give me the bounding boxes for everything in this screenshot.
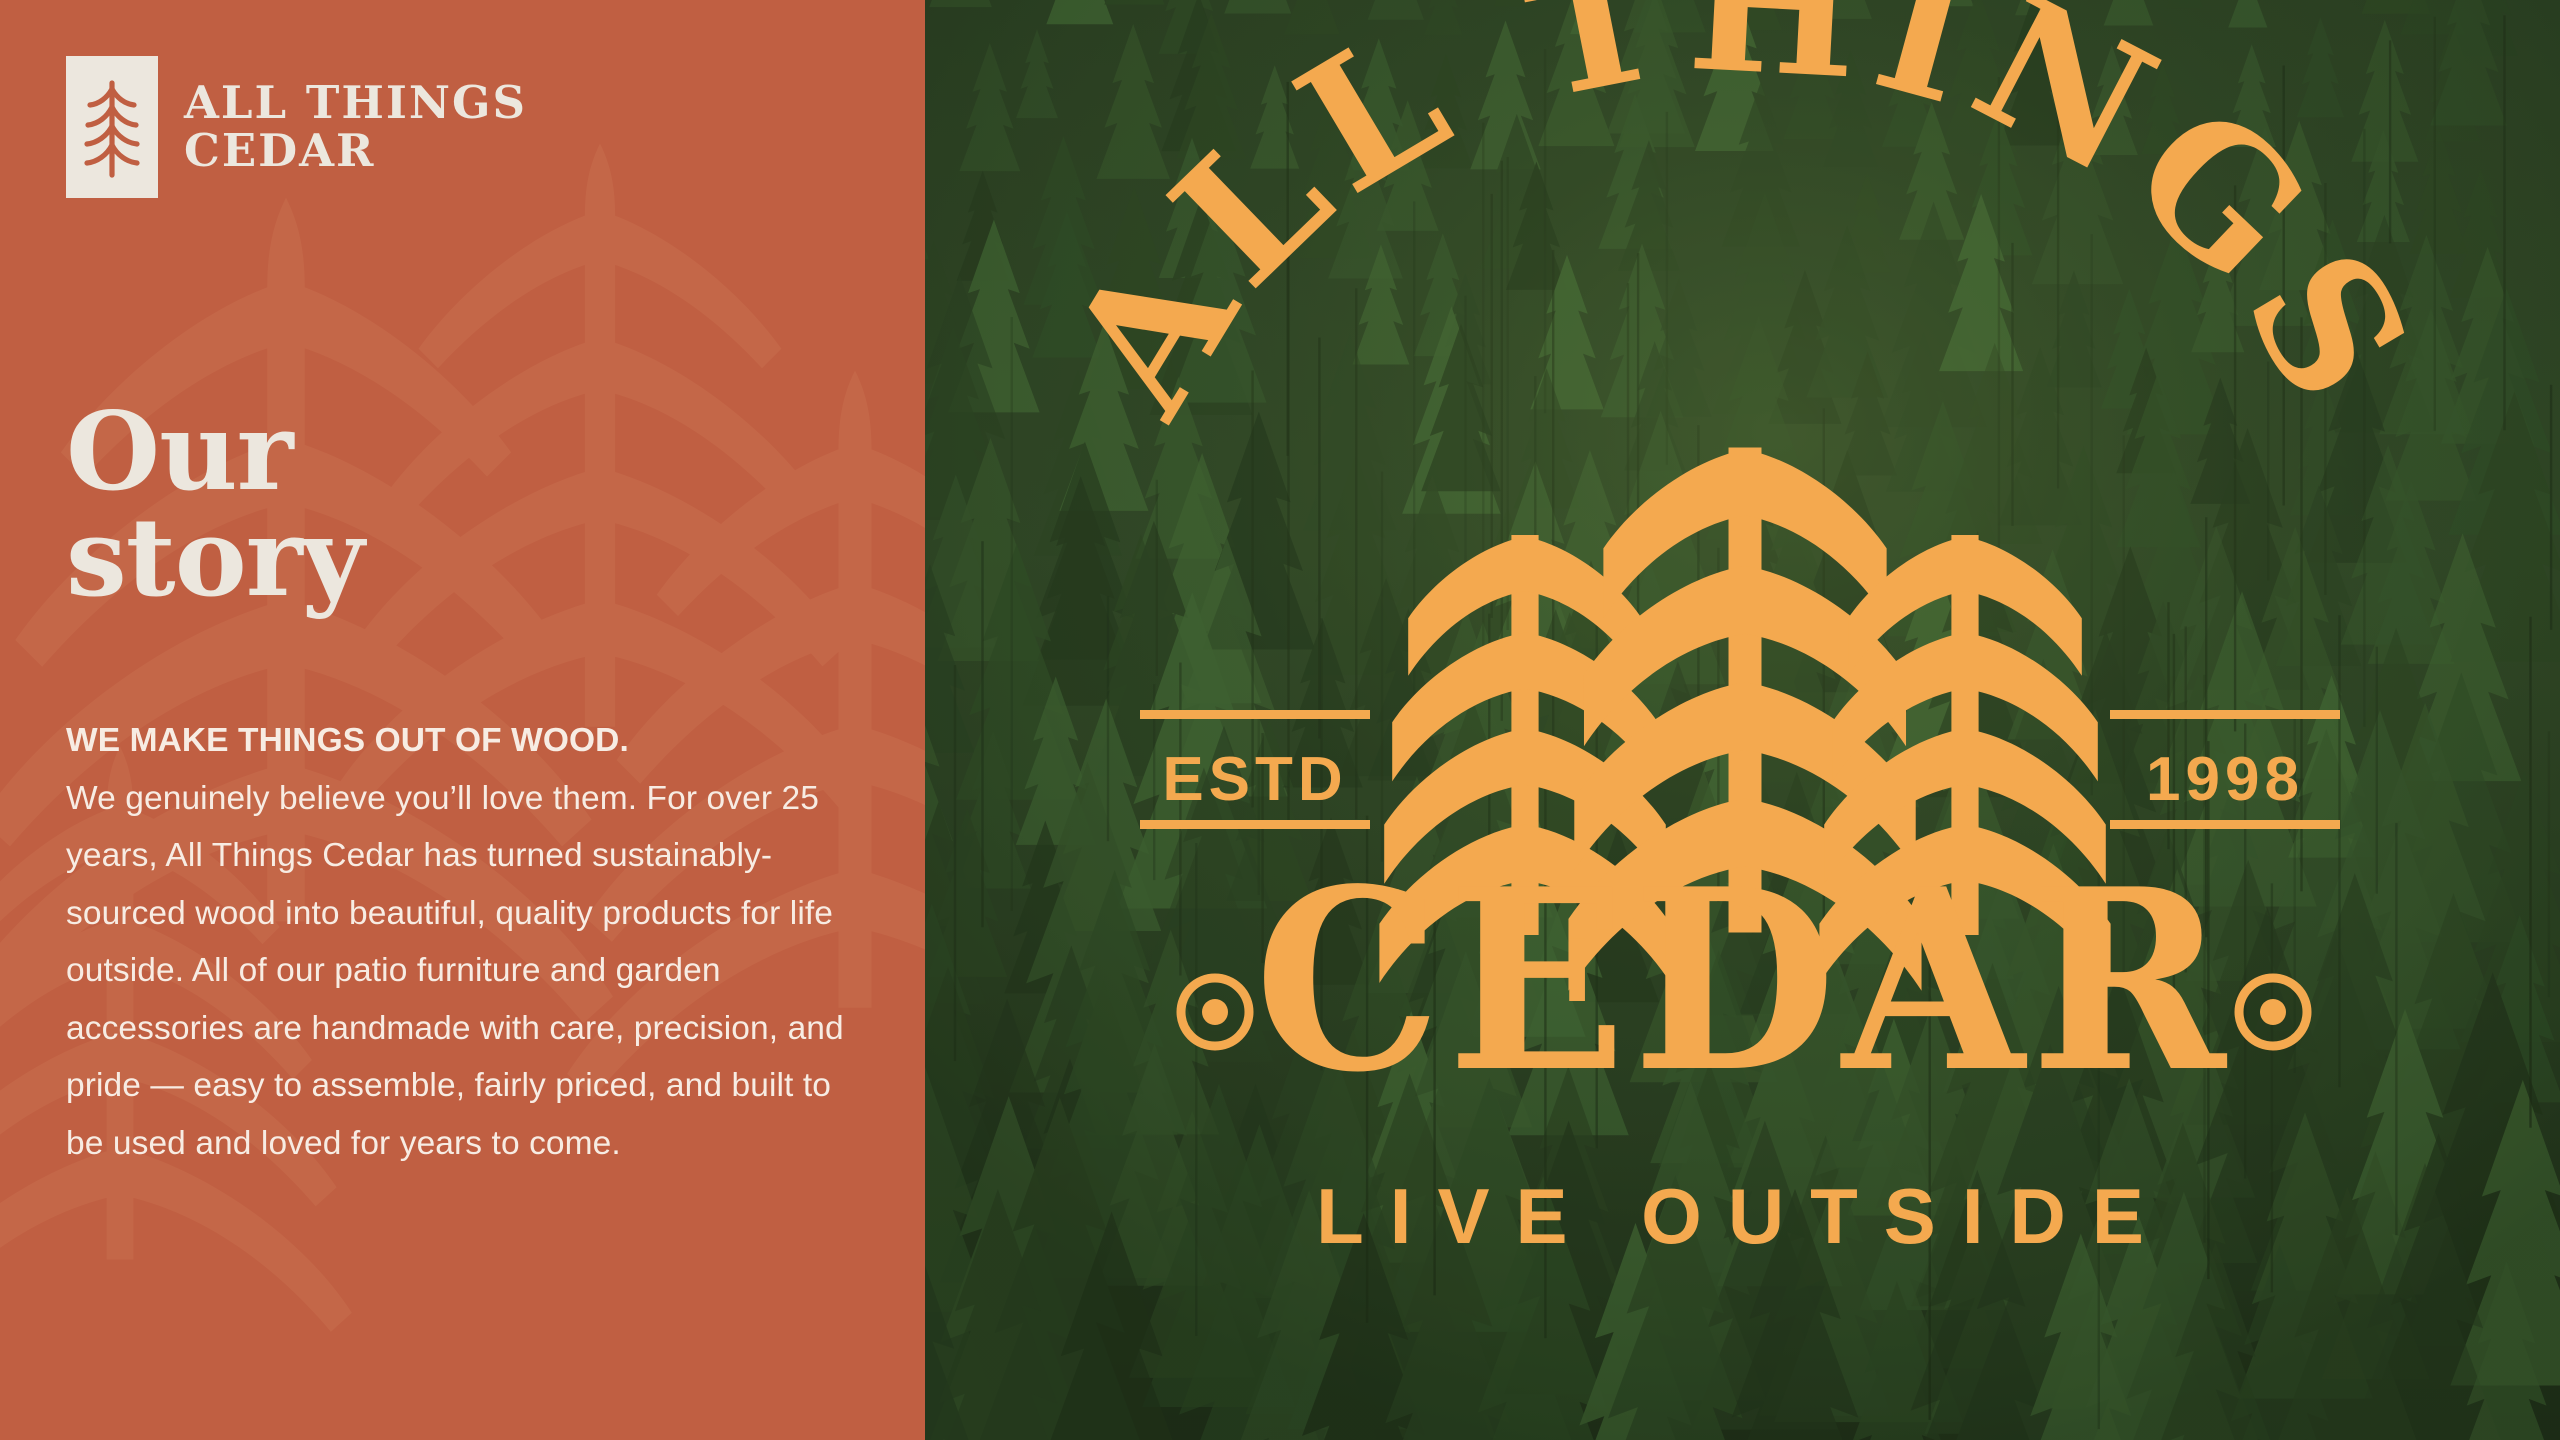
cedar-badge-emblem: ALL THINGS ESTD 1998 [925, 0, 2560, 1440]
story-paragraph: We genuinely believe you’ll love them. F… [66, 780, 844, 1162]
brand-wordmark-line-1: ALL THINGS [184, 79, 527, 127]
year-rule-bottom [2110, 820, 2340, 829]
page-title-line-2: story [66, 506, 363, 612]
left-content-panel: ALL THINGS CEDAR Our story WE MAKE THING… [0, 0, 925, 1440]
badge-arc-textpath: ALL THINGS [1026, 0, 2458, 448]
estd-rule-top [1140, 710, 1370, 719]
story-body: WE MAKE THINGS OUT OF WOOD. We genuinely… [66, 712, 866, 1172]
ring-dot-ornament-icon-right [2239, 978, 2307, 1046]
brand-story-banner: ALL THINGS CEDAR Our story WE MAKE THING… [0, 0, 2560, 1440]
badge-tagline: LIVE OUTSIDE [1316, 1172, 2170, 1260]
forest-photo-panel: ALL THINGS ESTD 1998 [925, 0, 2560, 1440]
brand-wordmark-line-2: CEDAR [184, 127, 527, 175]
estd-rule-bottom [1140, 820, 1370, 829]
brand-lockup[interactable]: ALL THINGS CEDAR [66, 56, 527, 198]
page-title-line-1: Our [66, 400, 363, 506]
conifer-tree-icon [82, 75, 142, 179]
page-title: Our story [66, 400, 363, 612]
year-rule-top [2110, 710, 2340, 719]
badge-wordmark: CEDAR [1254, 836, 2232, 1128]
brand-mark-tile [66, 56, 158, 198]
established-year-group: 1998 [2110, 710, 2340, 829]
brand-wordmark: ALL THINGS CEDAR [184, 79, 527, 175]
ring-dot-ornament-icon-left [1181, 978, 1249, 1046]
established-label-group: ESTD [1140, 710, 1370, 829]
story-lead-line: WE MAKE THINGS OUT OF WOOD. [66, 712, 866, 770]
established-label: ESTD [1162, 745, 1347, 814]
badge-arc-text: ALL THINGS [1026, 0, 2458, 448]
established-year: 1998 [2146, 745, 2304, 814]
